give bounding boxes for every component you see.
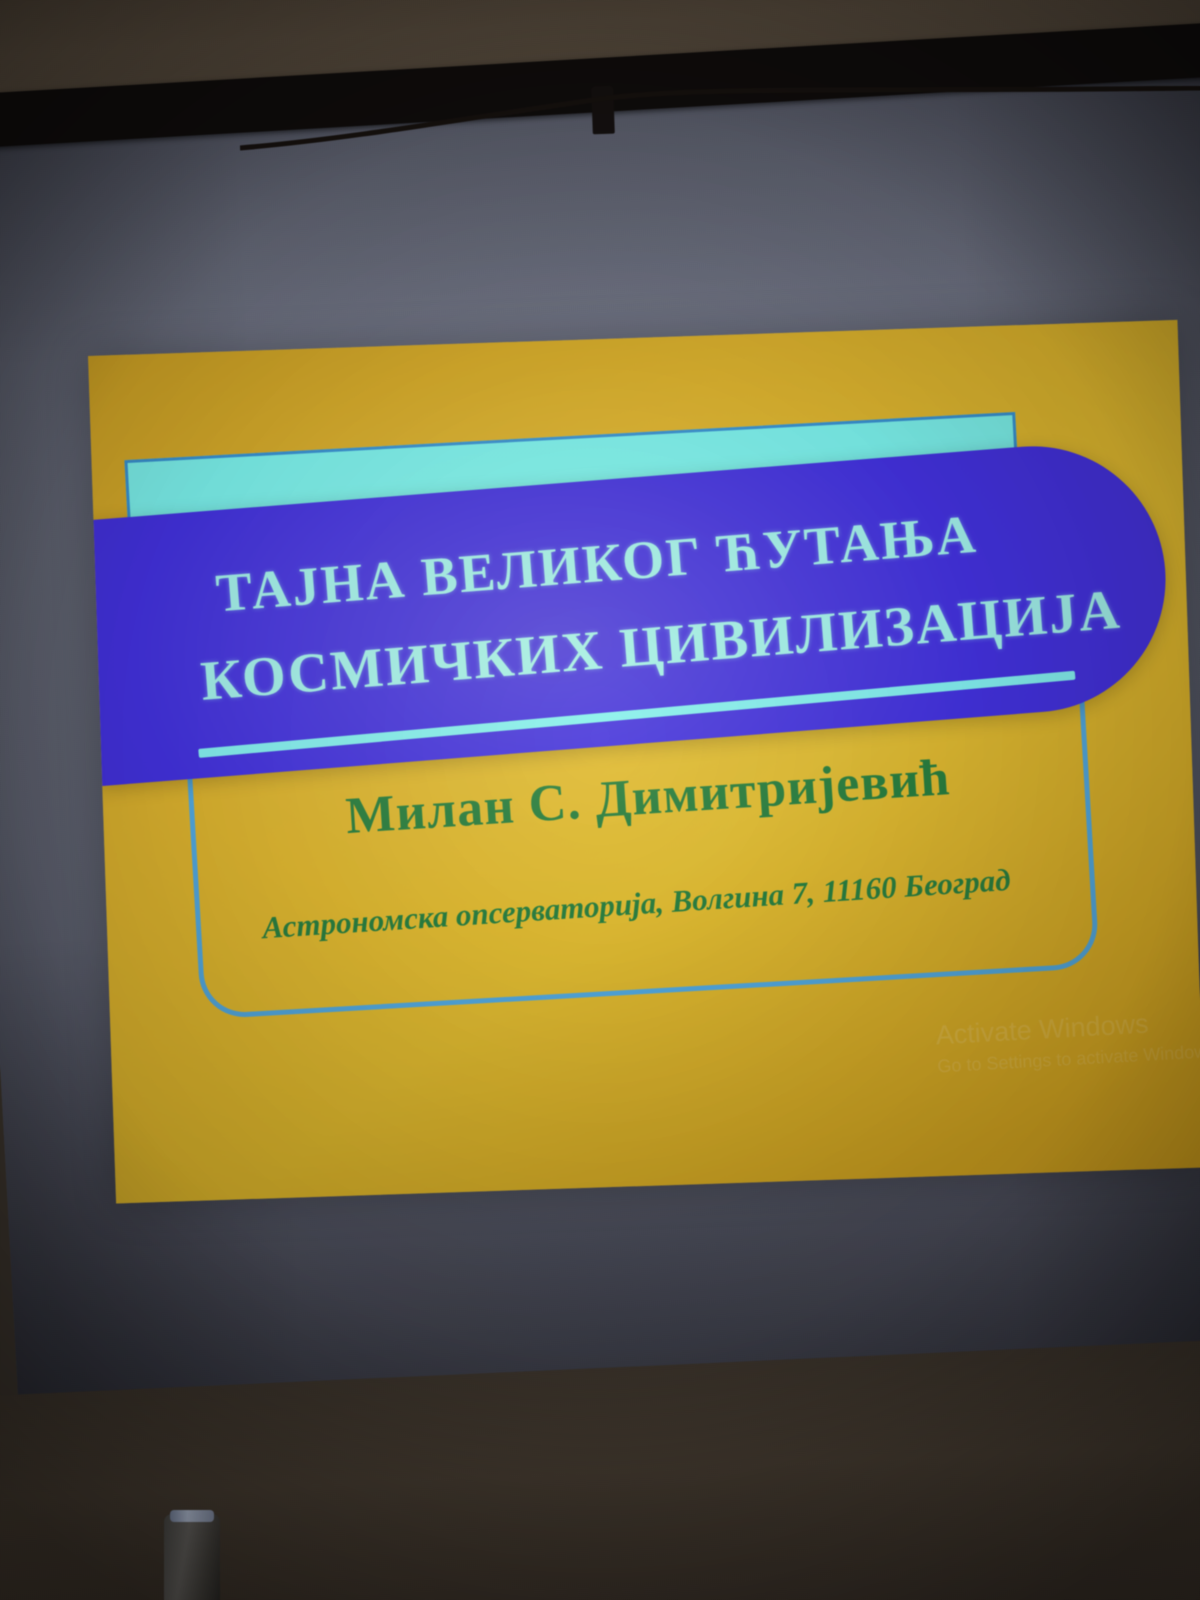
screen-mount-bracket — [591, 86, 615, 135]
watermark-subtitle: Go to Settings to activate Windows — [937, 1041, 1200, 1078]
photo-frame: ТАЈНА ВЕЛИКОГ ЋУТАЊА КОСМИЧКИХ ЦИВИЛИЗАЦ… — [0, 0, 1200, 1600]
bottle-cap — [170, 1510, 214, 1522]
windows-activation-watermark: Activate Windows Go to Settings to activ… — [935, 1006, 1200, 1078]
bottle-object — [164, 1514, 220, 1600]
presentation-slide: ТАЈНА ВЕЛИКОГ ЋУТАЊА КОСМИЧКИХ ЦИВИЛИЗАЦ… — [88, 320, 1200, 1204]
watermark-title: Activate Windows — [935, 1006, 1200, 1051]
